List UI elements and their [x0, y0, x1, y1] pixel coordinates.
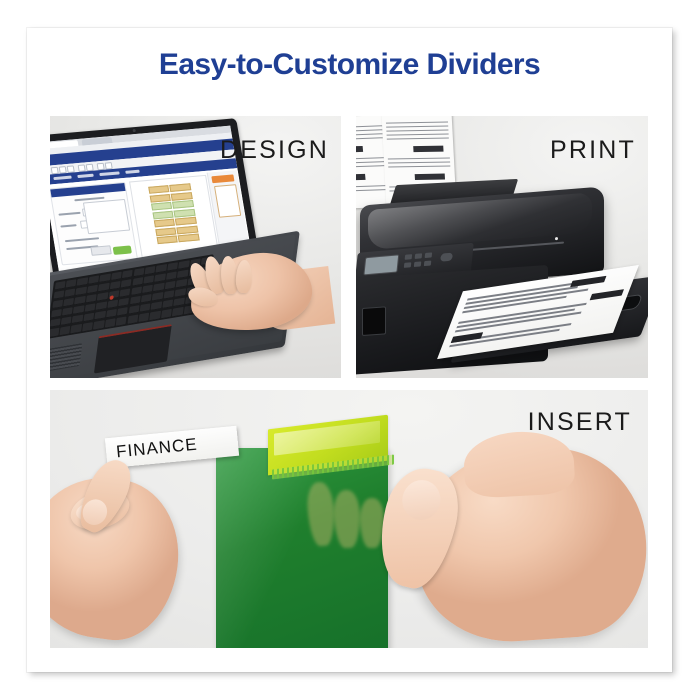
label-cell: [149, 194, 170, 203]
product-card: Easy-to-Customize Dividers: [27, 28, 672, 672]
vent-grille-icon: [50, 343, 83, 372]
label-cell: [172, 200, 193, 209]
printer-button[interactable]: [414, 261, 422, 267]
step-caption-design: DESIGN: [220, 136, 329, 165]
printer-button[interactable]: [425, 252, 433, 258]
form-header: [50, 183, 125, 197]
form-label-line: [58, 212, 80, 216]
label-cell: [178, 234, 199, 243]
form-preview-box: [83, 199, 130, 234]
label-cell: [155, 227, 176, 236]
label-cell: [151, 202, 172, 211]
apply-button[interactable]: [113, 245, 132, 254]
memory-card-slot: [362, 306, 386, 336]
label-cell: [174, 208, 195, 217]
lcd-display: [363, 254, 399, 275]
divider-body: [216, 448, 388, 648]
label-grid: [148, 183, 201, 250]
fingernail: [78, 495, 111, 529]
left-hand: [50, 448, 218, 648]
label-cell: [156, 235, 177, 244]
design-form-panel: [50, 182, 138, 266]
printer-button[interactable]: [405, 254, 413, 260]
form-option-line: [65, 237, 99, 242]
webcam-icon: [132, 129, 135, 132]
label-cell: [148, 185, 169, 194]
selected-tab-swatch: [211, 174, 234, 183]
step-panel-design: DESIGN: [50, 116, 341, 378]
printer-button[interactable]: [415, 253, 423, 259]
label-cell: [171, 192, 192, 201]
touchpad: [94, 324, 172, 374]
step-panel-print: PRINT: [356, 116, 648, 378]
label-cell: [152, 210, 173, 219]
step-caption-insert: INSERT: [528, 408, 632, 437]
label-cell: [176, 225, 197, 234]
right-hand: [368, 410, 648, 648]
printer-button[interactable]: [424, 260, 432, 266]
power-button[interactable]: [440, 253, 453, 262]
fingernail: [398, 476, 444, 524]
tab-insert-window: [274, 421, 380, 456]
step-caption-print: PRINT: [550, 136, 636, 165]
label-cell: [175, 217, 196, 226]
status-led-icon: [555, 237, 558, 240]
label-cell: [153, 219, 174, 228]
right-knuckles: [462, 429, 575, 499]
product-image-canvas: Easy-to-Customize Dividers: [0, 0, 700, 700]
step-panel-insert: FINANCE: [50, 390, 648, 648]
sheet-thumbnail: [214, 184, 241, 217]
page-title: Easy-to-Customize Dividers: [27, 48, 672, 82]
label-cell: [169, 183, 190, 192]
printer-button[interactable]: [404, 262, 412, 268]
cancel-button[interactable]: [90, 245, 111, 256]
form-label-line: [60, 224, 76, 227]
